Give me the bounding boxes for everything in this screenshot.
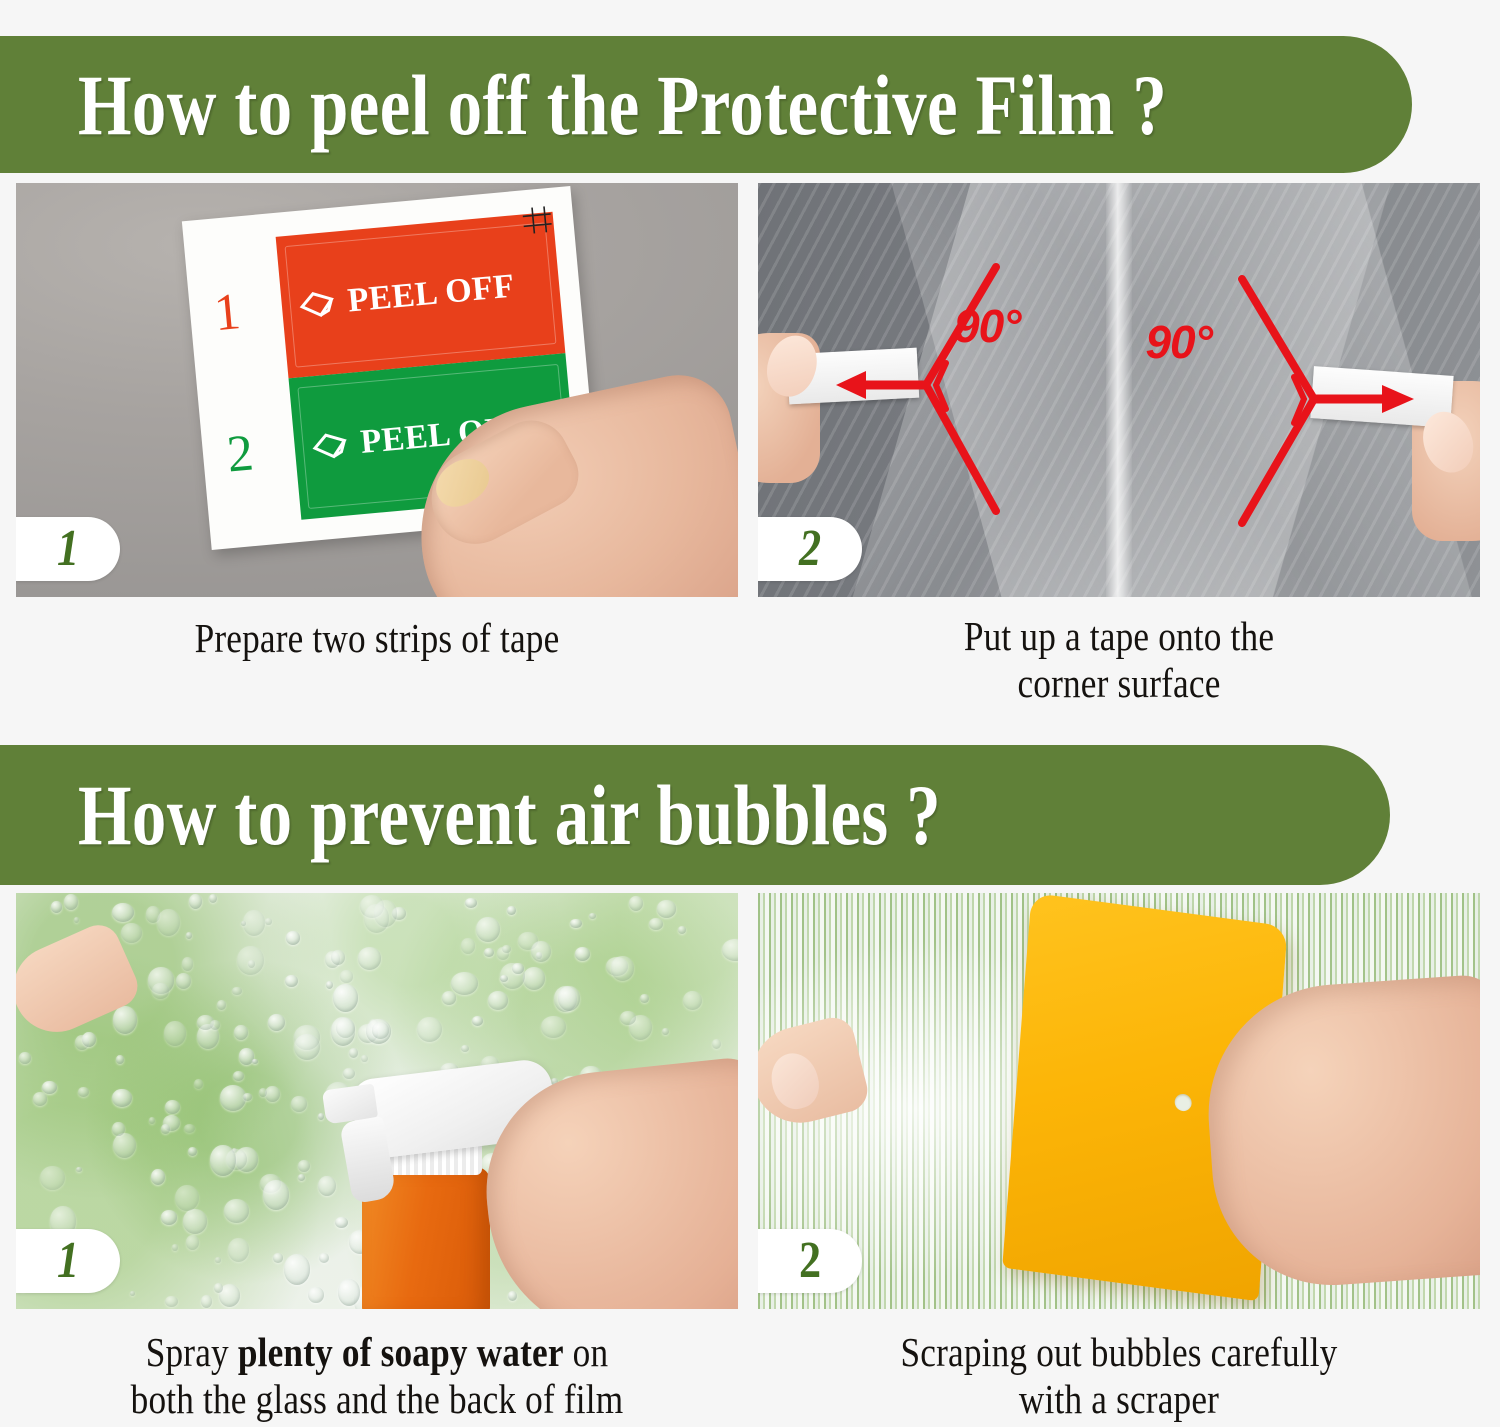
caption-line: corner surface [809,660,1430,707]
step-card-bubble-1: 1 Spray plenty of soapy water on both th… [16,893,738,1422]
section-peel-off: 1 PEEL OFF 2 [0,183,1500,706]
peel-corner-icon [310,429,353,463]
section-title-air-bubbles: How to prevent air bubbles ? [78,765,941,865]
section-air-bubbles: 1 Spray plenty of soapy water on both th… [0,893,1500,1422]
photo-tape-corner-90: 90° 90° 2 [758,183,1480,597]
caption-line: with a scraper [809,1376,1430,1423]
step-badge-1: 1 [16,517,120,581]
instruction-infographic: How to peel off the Protective Film ? 1 [0,0,1500,1427]
caption-line: both the glass and the back of film [67,1376,688,1423]
peel-corner-icon [297,288,340,322]
step-caption-scrape-bubbles: Scraping out bubbles carefully with a sc… [809,1309,1430,1422]
step-card-peel-2: 90° 90° 2 P [758,183,1480,706]
arrow-right-icon [1314,385,1414,413]
peel-off-number-2: 2 [225,423,256,484]
section-banner-air-bubbles: How to prevent air bubbles ? [0,745,1390,885]
peel-off-strip-1: 1 PEEL OFF [276,212,566,379]
arrow-left-icon [836,371,926,399]
step-card-peel-1: 1 PEEL OFF 2 [16,183,738,706]
angle-label-right: 90° [1145,315,1212,369]
step-badge-1: 1 [16,1229,120,1293]
step-card-bubble-2: 2 Scraping out bubbles carefully with a … [758,893,1480,1422]
photo-prepare-tape: 1 PEEL OFF 2 [16,183,738,597]
step-caption-tape-corner: Put up a tape onto the corner surface [809,597,1430,706]
peel-off-text-1: PEEL OFF [346,268,516,321]
step-row-peel-off: 1 PEEL OFF 2 [0,183,1500,706]
caption-line: Prepare two strips of tape [67,615,688,662]
step-badge-2: 2 [758,517,862,581]
angle-label-left: 90° [954,299,1021,353]
step-badge-number: 1 [57,523,79,575]
caption-emphasis: plenty of soapy water [238,1329,564,1375]
peel-off-number-1: 1 [212,282,243,343]
photo-spray-soapy-water: 1 [16,893,738,1309]
step-badge-number: 2 [799,1235,821,1287]
step-caption-spray-water: Spray plenty of soapy water on both the … [67,1309,688,1422]
photo-scraper: 2 [758,893,1480,1309]
caption-line: Put up a tape onto the [809,613,1430,660]
section-title-peel-off: How to peel off the Protective Film ? [78,55,1167,155]
step-row-air-bubbles: 1 Spray plenty of soapy water on both th… [0,893,1500,1422]
caption-line: Spray plenty of soapy water on [67,1329,688,1376]
registration-marks-icon [520,203,561,236]
angle-annotation-right [1102,251,1432,581]
caption-text: on [564,1329,609,1375]
step-badge-number: 2 [799,523,821,575]
caption-text: Spray [146,1329,238,1375]
peel-off-label-1: PEEL OFF [296,268,516,326]
section-banner-peel-off: How to peel off the Protective Film ? [0,36,1412,173]
step-badge-2: 2 [758,1229,862,1293]
step-badge-number: 1 [57,1235,79,1287]
caption-line: Scraping out bubbles carefully [809,1329,1430,1376]
angle-annotation-left [818,243,1138,573]
step-caption-prepare-tape: Prepare two strips of tape [67,597,688,662]
